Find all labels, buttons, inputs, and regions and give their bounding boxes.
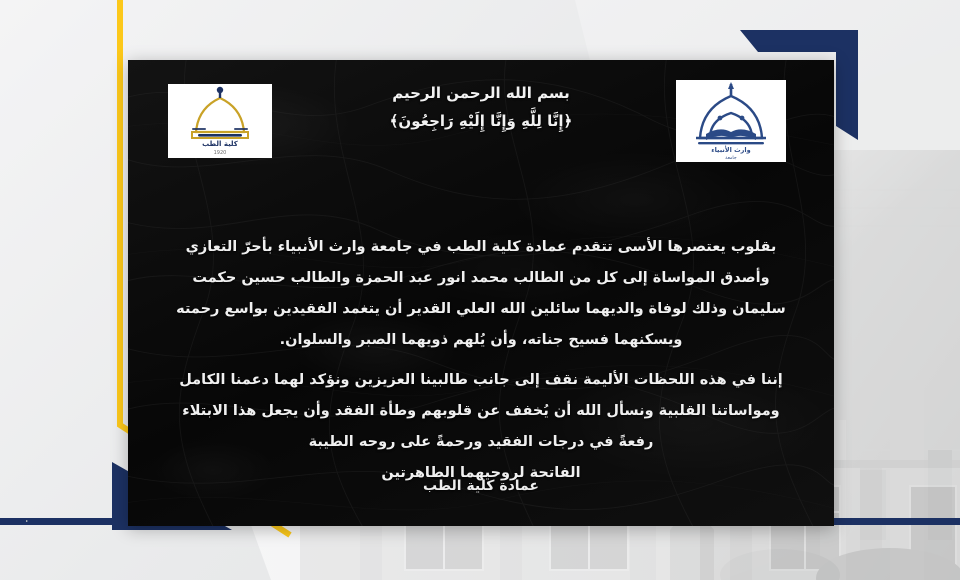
svg-text:كلية الطب: كلية الطب [202,140,239,148]
body-line: سليمان وذلك لوفاة والديهما سائلين الله ا… [150,294,812,325]
quran-verse-text: ﴿إِنَّا لِلَّهِ وَإِنَّا إِلَيْهِ رَاجِع… [128,112,834,130]
uowa-line-1: UO [26,454,28,495]
svg-text:جامعة: جامعة [725,156,737,161]
body-line: ويسكنهما فسيح جناته، وأن يُلهم ذويهما ال… [150,325,812,356]
basmala-block: بسم الله الرحمن الرحيم ﴿إِنَّا لِلَّهِ و… [128,84,834,130]
card-body: بقلوب يعتصرها الأسى تتقدم عمادة كلية الط… [150,232,812,495]
svg-text:1920: 1920 [214,150,227,156]
body-line: وأصدق المواساة إلى كل من الطالب محمد انو… [150,263,812,294]
svg-text:وارث الأنبياء: وارث الأنبياء [711,145,750,154]
body-line: رفعةً في درجات الفقيد ورحمةً على روحه ال… [150,427,812,458]
card-header: كلية الطب 1920 [128,60,834,170]
signature-text: عمادة كلية الطب [128,478,834,494]
body-line: إننا في هذه اللحظات الأليمة نقف إلى جانب… [150,365,812,396]
uowa-line-2: WA [26,490,28,530]
body-line: ومواساتنا القلبية ونسأل الله أن يُخفف عن… [150,396,812,427]
basmala-text: بسم الله الرحمن الرحيم [128,84,834,102]
body-line: بقلوب يعتصرها الأسى تتقدم عمادة كلية الط… [150,232,812,263]
condolence-paragraph-2: إننا في هذه اللحظات الأليمة نقف إلى جانب… [150,365,812,489]
condolence-paragraph-1: بقلوب يعتصرها الأسى تتقدم عمادة كلية الط… [150,232,812,356]
uowa-wordmark: UO WA [26,452,118,530]
condolence-card: كلية الطب 1920 [128,60,834,526]
